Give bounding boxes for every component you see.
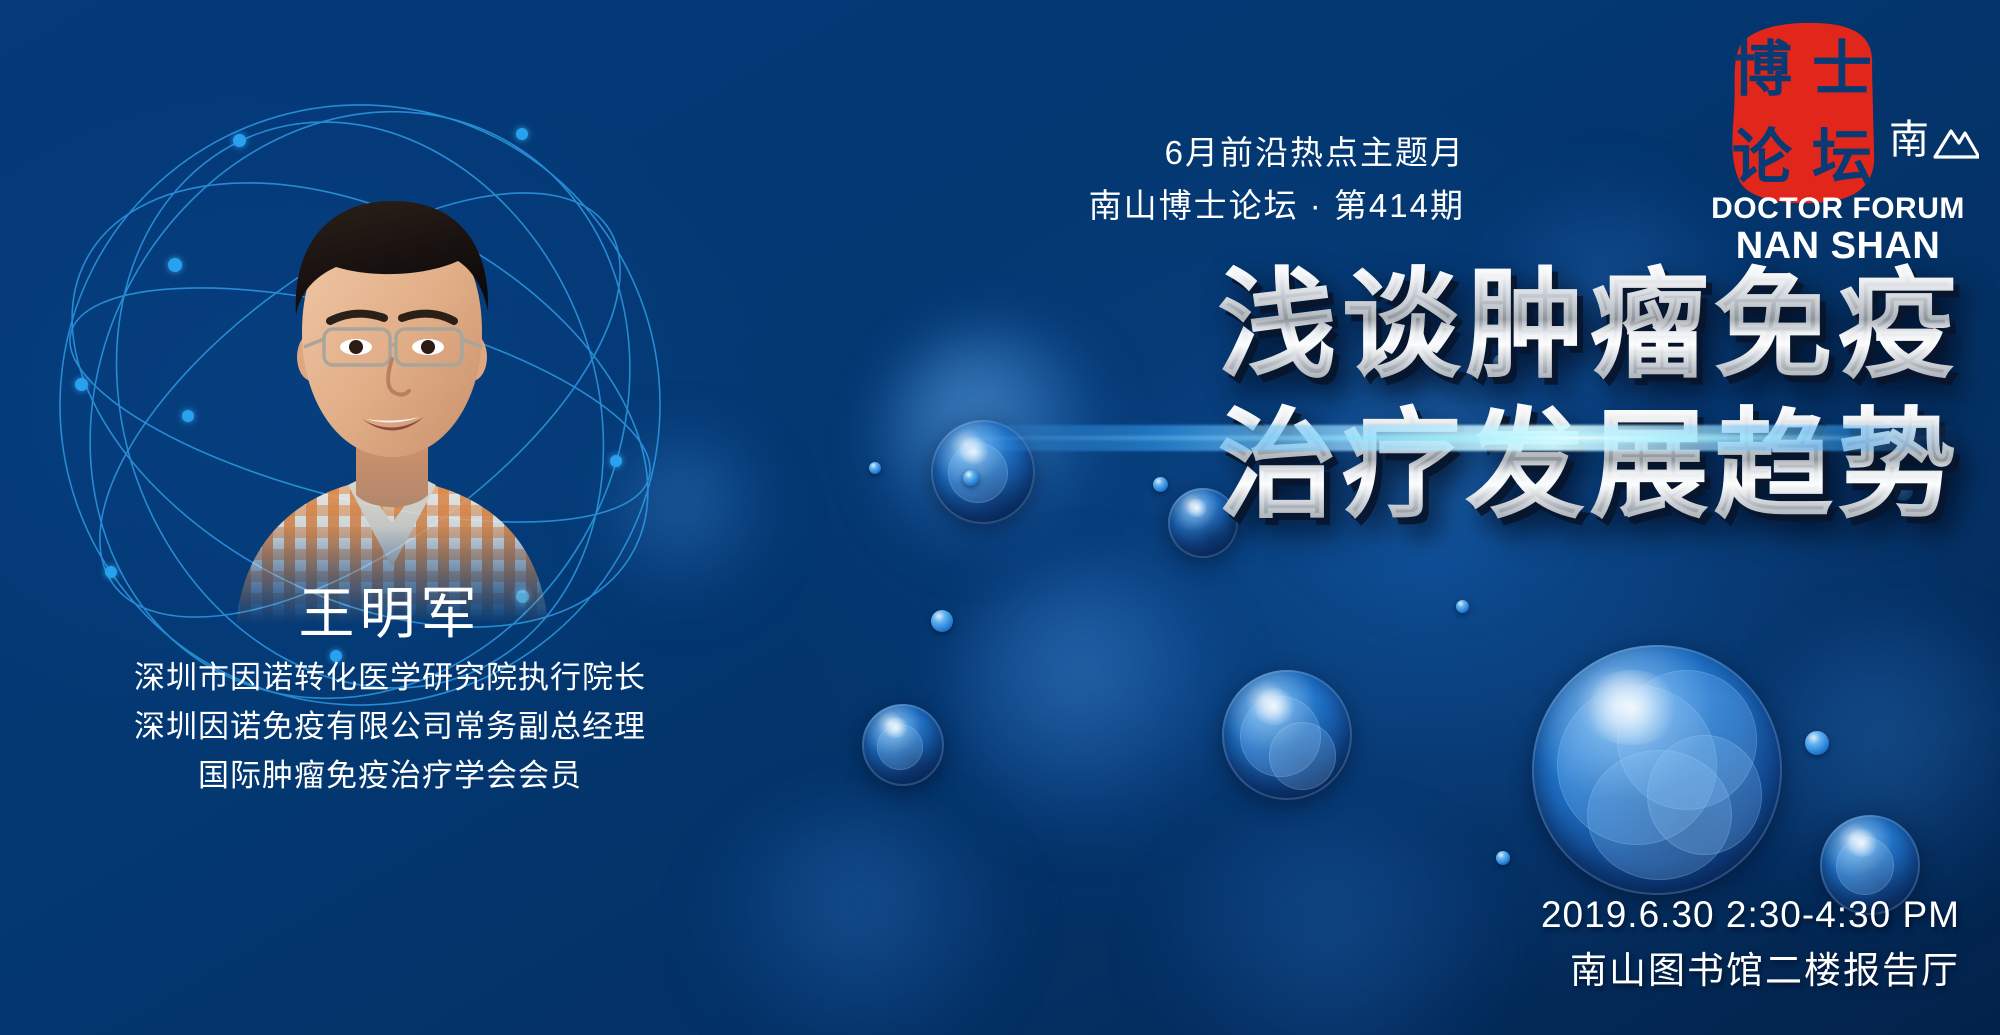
kicker-line-2: 南山博士论坛 · 第414期: [1089, 179, 1465, 232]
orbit-node: [233, 134, 246, 147]
sphere-rim: [862, 704, 944, 786]
nanshan-mark: 南: [1889, 115, 1979, 168]
seal-char: 士: [1812, 40, 1872, 100]
orbit-node: [75, 378, 88, 391]
bokeh-circle: [950, 560, 1230, 840]
event-kicker: 6月前沿热点主题月 南山博士论坛 · 第414期: [1089, 126, 1465, 232]
bubble-dot: [1805, 731, 1829, 755]
seal-characters: 博 士 论 坛: [1722, 26, 1882, 202]
orbit-node: [182, 410, 194, 422]
logo-en-line1: DOCTOR FORUM: [1692, 192, 1984, 226]
event-poster: 博 士 论 坛 南 DOCTOR FORUM NAN SHAN 6月前沿热点主题…: [0, 0, 2000, 1035]
title-line-2: 治疗发展趋势: [902, 395, 1962, 535]
doctor-forum-logo[interactable]: 博 士 论 坛 南 DOCTOR FORUM NAN SHAN: [1684, 20, 1984, 245]
title-line-1: 浅谈肿瘤免疫: [902, 255, 1962, 395]
portrait-mask: [196, 175, 584, 625]
glossy-sphere: [862, 704, 944, 786]
speaker-credential: 深圳市因诺转化医学研究院执行院长: [0, 653, 780, 702]
portrait-illustration: [196, 175, 584, 625]
glossy-sphere: [1222, 670, 1352, 800]
bokeh-circle: [1150, 820, 1510, 1035]
seal-char: 博: [1732, 40, 1792, 100]
orbit-node: [610, 455, 622, 467]
kicker-line-1: 6月前沿热点主题月: [1089, 126, 1465, 179]
event-datetime: 2019.6.30 2:30-4:30 PM: [1541, 887, 1960, 943]
orbit-node: [516, 128, 528, 140]
speaker-portrait: [196, 175, 584, 625]
seal-char: 论: [1732, 128, 1792, 188]
nan-character: 南: [1889, 117, 1929, 163]
speaker-credential: 国际肿瘤免疫治疗学会会员: [0, 751, 780, 800]
speaker-name: 王明军: [0, 575, 780, 653]
bokeh-circle: [700, 800, 1020, 1035]
glossy-sphere-large: [1532, 645, 1782, 895]
seal-char: 坛: [1812, 128, 1872, 188]
event-venue: 南山图书馆二楼报告厅: [1541, 943, 1960, 999]
orbit-node: [168, 258, 182, 272]
event-details: 2019.6.30 2:30-4:30 PM 南山图书馆二楼报告厅: [1541, 887, 1960, 999]
mountain-icon: 南: [1889, 115, 1979, 163]
bubble-dot: [931, 610, 953, 632]
sphere-rim: [1532, 645, 1782, 895]
speaker-credential: 深圳因诺免疫有限公司常务副总经理: [0, 702, 780, 751]
bubble-dot: [1496, 851, 1510, 865]
light-streak-decoration: [940, 425, 1960, 451]
sphere-rim: [1222, 670, 1352, 800]
bubble-dot: [869, 462, 881, 474]
poster-title: 浅谈肿瘤免疫 治疗发展趋势: [902, 255, 1962, 535]
speaker-info: 王明军 深圳市因诺转化医学研究院执行院长 深圳因诺免疫有限公司常务副总经理 国际…: [0, 575, 780, 800]
bubble-dot: [1456, 600, 1469, 613]
